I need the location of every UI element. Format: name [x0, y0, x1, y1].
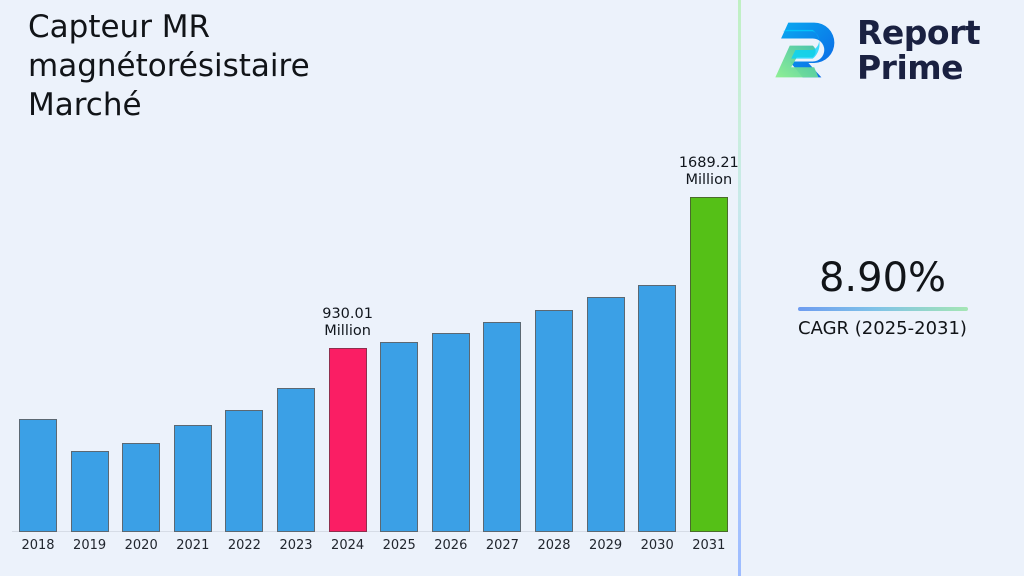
report-prime-logo-mark [771, 14, 843, 86]
cagr-block: 8.90% CAGR (2025-2031) [741, 255, 1024, 340]
bar-2023 [277, 388, 315, 532]
bar-2018 [19, 419, 57, 532]
cagr-caption: CAGR (2025-2031) [741, 318, 1024, 340]
cagr-value: 8.90% [741, 255, 1024, 301]
bar-2026 [432, 333, 470, 532]
cagr-divider-rule [798, 307, 968, 311]
bar-2024 [329, 348, 367, 532]
bar-2020 [122, 443, 160, 532]
bar-2030 [638, 285, 676, 532]
chart-panel: Capteur MR magnétorésistaire Marché 2018… [0, 0, 739, 576]
bar-2031 [690, 197, 728, 532]
report-prime-logo: Report Prime [771, 14, 980, 86]
bar-2027 [483, 322, 521, 532]
bar-2029 [587, 297, 625, 532]
bar-2025 [380, 342, 418, 532]
report-infographic: Capteur MR magnétorésistaire Marché 2018… [0, 0, 1024, 576]
bar-2028 [535, 310, 573, 532]
bar-2021 [174, 425, 212, 532]
x-tick-2031: 2031 [679, 538, 739, 553]
bar-2019 [71, 451, 109, 532]
bar-value-label-2024: 930.01 Million [293, 306, 403, 340]
bar-chart-plot: 2018201920202021202220232024930.01 Milli… [0, 0, 739, 576]
logo-wordmark: Report Prime [857, 15, 980, 85]
bar-2022 [225, 410, 263, 532]
brand-panel: Report Prime 8.90% CAGR (2025-2031) [741, 0, 1024, 576]
